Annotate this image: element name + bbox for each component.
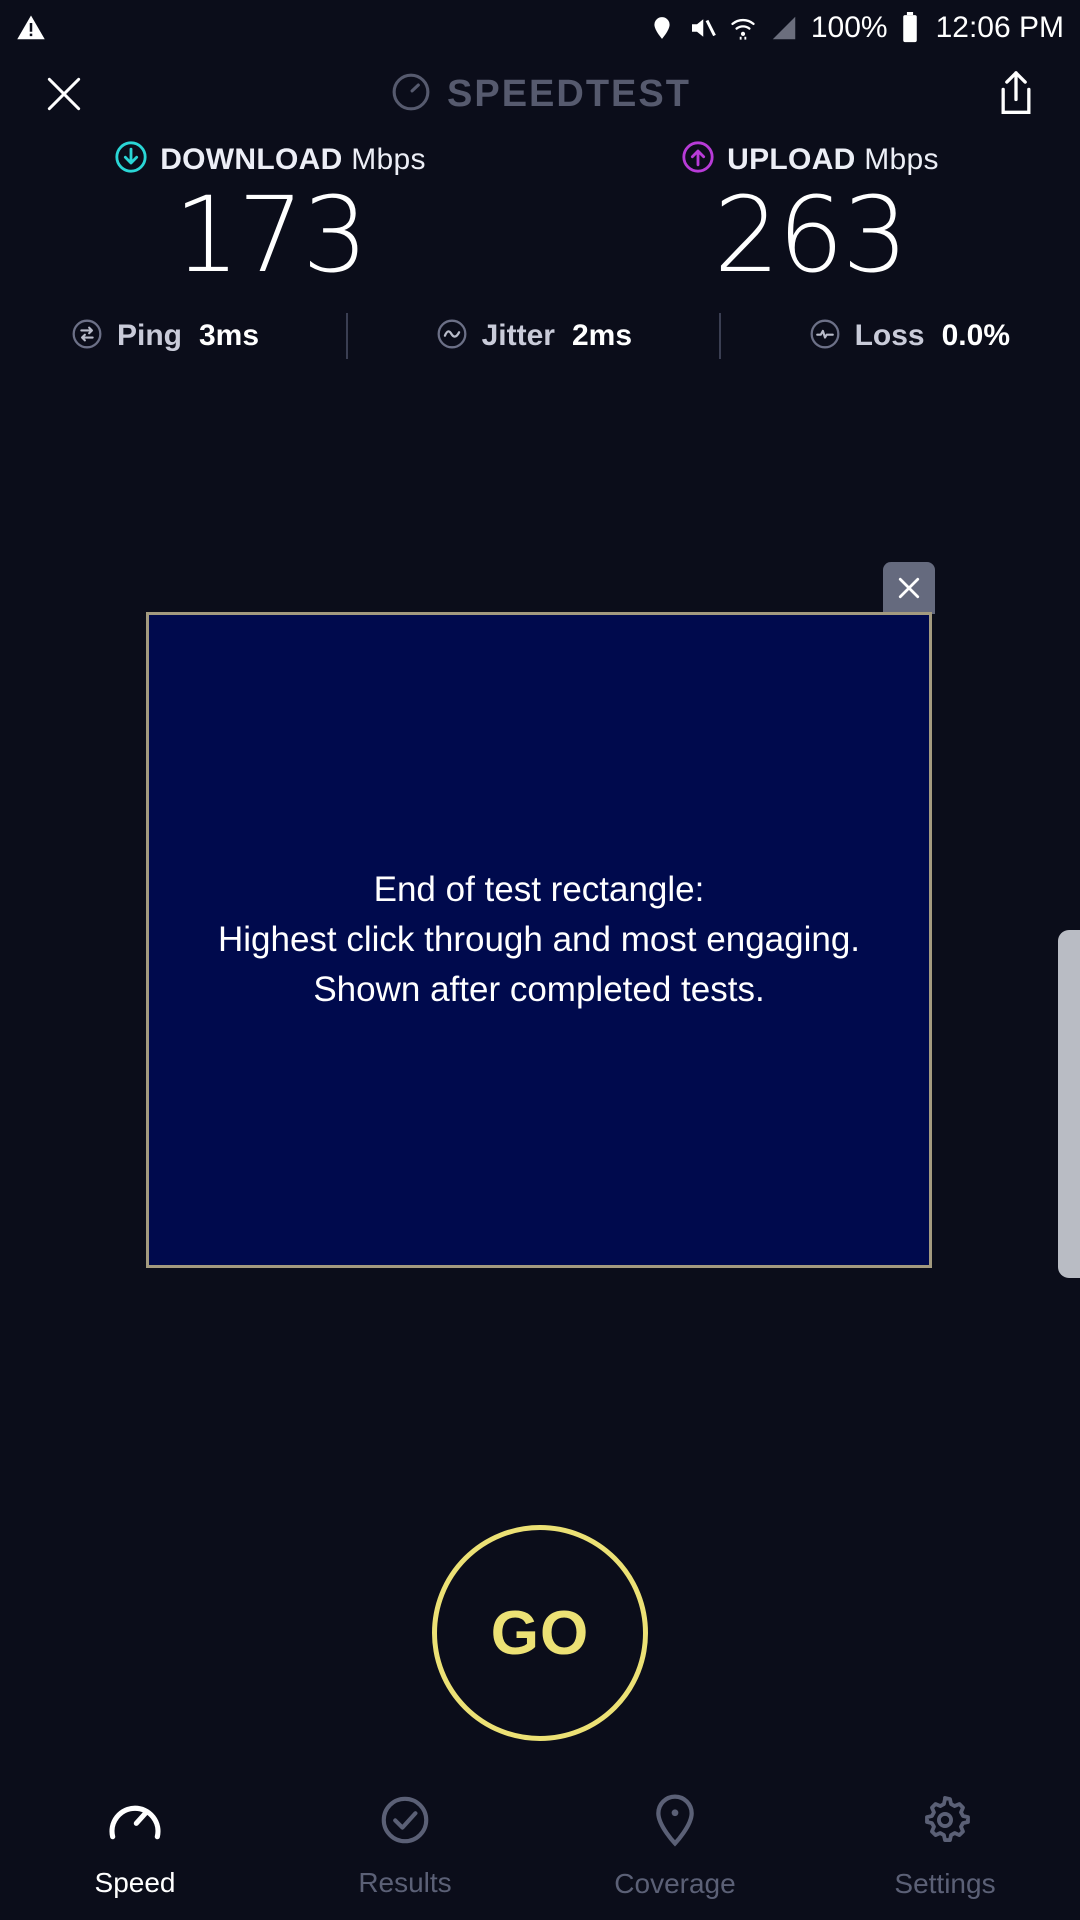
speedtest-app-screen: 100% 12:06 PM SPEEDTEST [0, 0, 1080, 1920]
share-icon[interactable] [994, 70, 1038, 118]
download-unit: Mbps [351, 143, 426, 176]
check-circle-icon [377, 1794, 433, 1851]
upload-unit: Mbps [864, 143, 939, 176]
vertical-scrollbar[interactable] [1058, 930, 1080, 1278]
nav-item-settings[interactable]: Settings [810, 1793, 1080, 1900]
ping-jitter-loss-row: Ping 3ms Jitter 2ms [40, 313, 1040, 359]
jitter-metric: Jitter 2ms [435, 317, 632, 356]
nav-item-speed[interactable]: Speed [0, 1794, 270, 1899]
brand-logo: SPEEDTEST [0, 70, 1080, 119]
nav-label-coverage: Coverage [614, 1868, 735, 1900]
download-value: 173 [174, 183, 367, 287]
ping-metric: Ping 3ms [70, 317, 259, 356]
loss-label: Loss [855, 319, 925, 353]
test-results: DOWNLOAD Mbps 173 UPLOAD [0, 140, 1080, 359]
wifi-icon [729, 13, 757, 43]
go-button-label: GO [491, 1598, 589, 1669]
battery-full-icon [900, 12, 920, 44]
status-bar: 100% 12:06 PM [0, 0, 1080, 56]
ad-close-button[interactable] [883, 562, 935, 614]
map-pin-icon [649, 1793, 701, 1852]
download-label: DOWNLOAD [160, 143, 342, 176]
download-arrow-icon [114, 140, 148, 179]
close-x-icon[interactable] [42, 72, 86, 116]
jitter-icon [435, 317, 469, 356]
ad-line-1: End of test rectangle: [218, 865, 860, 915]
upload-arrow-icon [681, 140, 715, 179]
speedometer-icon [106, 1794, 164, 1851]
loss-value: 0.0% [942, 319, 1010, 353]
ad-text: End of test rectangle: Highest click thr… [218, 865, 860, 1014]
location-pin-icon [649, 13, 675, 43]
upload-label: UPLOAD [727, 143, 855, 176]
gear-icon [917, 1793, 973, 1852]
divider [346, 313, 348, 359]
brand-title: SPEEDTEST [447, 73, 691, 116]
loss-metric: Loss 0.0% [808, 317, 1010, 356]
go-button[interactable]: GO [432, 1525, 648, 1741]
ping-value: 3ms [199, 319, 259, 353]
upload-metric: UPLOAD Mbps 263 [540, 140, 1080, 287]
jitter-label: Jitter [482, 319, 555, 353]
warning-triangle-icon [16, 13, 46, 43]
nav-item-coverage[interactable]: Coverage [540, 1793, 810, 1900]
nav-label-speed: Speed [95, 1867, 176, 1899]
speedtest-gauge-icon [389, 70, 433, 119]
ad-line-3: Shown after completed tests. [218, 965, 860, 1015]
jitter-value: 2ms [572, 319, 632, 353]
advertisement-banner[interactable]: End of test rectangle: Highest click thr… [146, 612, 932, 1268]
app-header: SPEEDTEST [0, 56, 1080, 132]
upload-value: 263 [714, 183, 907, 287]
ping-label: Ping [117, 319, 182, 353]
volume-muted-icon [687, 13, 717, 43]
nav-item-results[interactable]: Results [270, 1794, 540, 1899]
divider [719, 313, 721, 359]
battery-percent-label: 100% [811, 13, 888, 43]
cellular-signal-icon [769, 13, 799, 43]
bottom-navigation: Speed Results Coverage [0, 1772, 1080, 1920]
ad-line-2: Highest click through and most engaging. [218, 915, 860, 965]
loss-icon [808, 317, 842, 356]
download-metric: DOWNLOAD Mbps 173 [0, 140, 540, 287]
nav-label-results: Results [358, 1867, 451, 1899]
status-bar-clock: 12:06 PM [936, 13, 1064, 43]
nav-label-settings: Settings [894, 1868, 995, 1900]
ping-icon [70, 317, 104, 356]
